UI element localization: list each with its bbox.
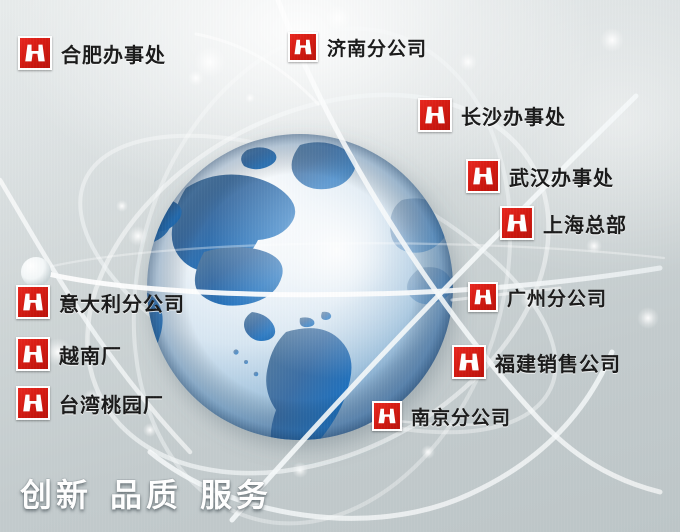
bridge-tower-logo-icon xyxy=(452,345,486,379)
location-label: 福建销售公司 xyxy=(495,348,621,377)
bridge-tower-logo-icon xyxy=(372,401,402,431)
bridge-tower-logo-icon xyxy=(500,206,534,240)
location-chip-vietnam[interactable]: 越南厂 xyxy=(16,337,122,371)
location-chip-shanghai[interactable]: 上海总部 xyxy=(500,206,627,240)
slogan-word-3: 服务 xyxy=(200,476,272,514)
bridge-tower-logo-icon xyxy=(466,159,500,193)
location-label: 济南分公司 xyxy=(327,34,427,61)
location-chip-nanjing[interactable]: 南京分公司 xyxy=(372,401,511,431)
location-chip-hefei[interactable]: 合肥办事处 xyxy=(18,36,166,70)
location-label: 南京分公司 xyxy=(411,403,511,430)
location-label: 合肥办事处 xyxy=(61,39,166,68)
location-chip-fujian[interactable]: 福建销售公司 xyxy=(452,345,621,379)
poster-canvas: 合肥办事处 济南分公司 长沙办事处 xyxy=(0,0,680,532)
location-label: 武汉办事处 xyxy=(509,162,614,191)
bridge-tower-logo-icon xyxy=(468,282,498,312)
slogan-word-1: 创新 xyxy=(20,476,92,514)
location-chip-changsha[interactable]: 长沙办事处 xyxy=(418,98,566,132)
location-chip-italy[interactable]: 意大利分公司 xyxy=(16,285,185,319)
location-chip-guangzhou[interactable]: 广州分公司 xyxy=(468,282,607,312)
bridge-tower-logo-icon xyxy=(16,386,50,420)
bridge-tower-logo-icon xyxy=(418,98,452,132)
location-chip-wuhan[interactable]: 武汉办事处 xyxy=(466,159,614,193)
location-label: 长沙办事处 xyxy=(461,101,566,130)
location-label: 台湾桃园厂 xyxy=(59,389,164,418)
bridge-tower-logo-icon xyxy=(18,36,52,70)
location-label: 上海总部 xyxy=(543,209,627,238)
location-label: 广州分公司 xyxy=(507,284,607,311)
slogan-word-2: 品质 xyxy=(110,476,182,514)
location-label-layer: 合肥办事处 济南分公司 长沙办事处 xyxy=(0,0,680,532)
bridge-tower-logo-icon xyxy=(16,337,50,371)
location-label: 意大利分公司 xyxy=(59,288,185,317)
slogan: 创新品质服务 xyxy=(20,470,272,516)
location-label: 越南厂 xyxy=(59,340,122,369)
bridge-tower-logo-icon xyxy=(288,32,318,62)
location-chip-taoyuan[interactable]: 台湾桃园厂 xyxy=(16,386,164,420)
location-chip-jinan[interactable]: 济南分公司 xyxy=(288,32,427,62)
bridge-tower-logo-icon xyxy=(16,285,50,319)
